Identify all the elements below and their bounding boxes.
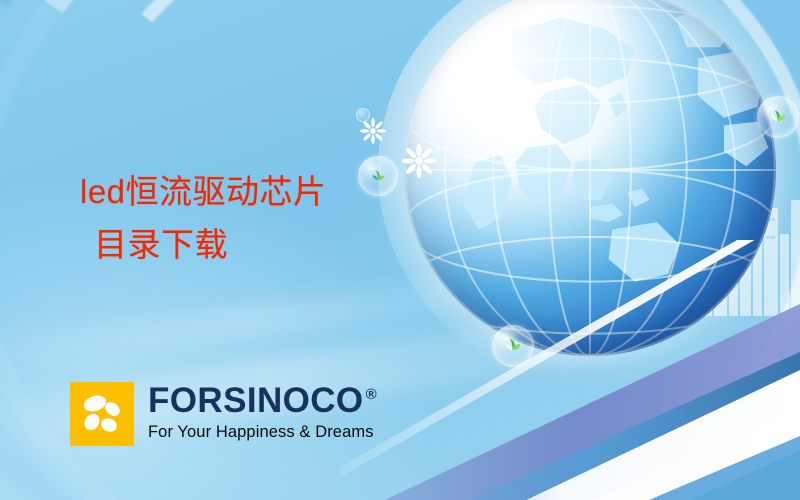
logo-wordmark-text: FORSINOCO xyxy=(148,384,364,418)
bubble-with-leaves-icon xyxy=(492,325,534,367)
four-petal-flower-icon xyxy=(70,382,134,446)
sparkle-asterisk-icon xyxy=(360,118,386,144)
registered-trademark-icon: ® xyxy=(366,387,377,402)
page-title: led恒流驱动芯片 目录下载 xyxy=(80,166,440,272)
headline-line-2: 目录下载 xyxy=(80,219,440,272)
headline-line-1: led恒流驱动芯片 xyxy=(80,166,440,219)
globe-landmass xyxy=(404,0,776,356)
promo-banner: led恒流驱动芯片 目录下载 FORSINOCO ® For Your Happ… xyxy=(0,0,800,500)
brand-logo: FORSINOCO ® For Your Happiness & Dreams xyxy=(70,382,377,446)
city-skyline-icon xyxy=(610,196,800,316)
globe-sphere xyxy=(404,0,776,356)
globe-icon xyxy=(404,0,776,356)
logo-wordmark: FORSINOCO ® xyxy=(148,384,377,418)
globe-highlight xyxy=(404,0,776,356)
logo-text-block: FORSINOCO ® For Your Happiness & Dreams xyxy=(148,382,377,442)
globe-rim xyxy=(404,0,776,356)
logo-tagline: For Your Happiness & Dreams xyxy=(148,423,377,442)
globe-halo xyxy=(378,0,800,382)
bubble-icon xyxy=(356,108,370,122)
bubble-with-leaves-icon xyxy=(757,96,799,138)
light-band xyxy=(0,259,630,376)
diagonal-stripe-decoration xyxy=(340,240,800,500)
